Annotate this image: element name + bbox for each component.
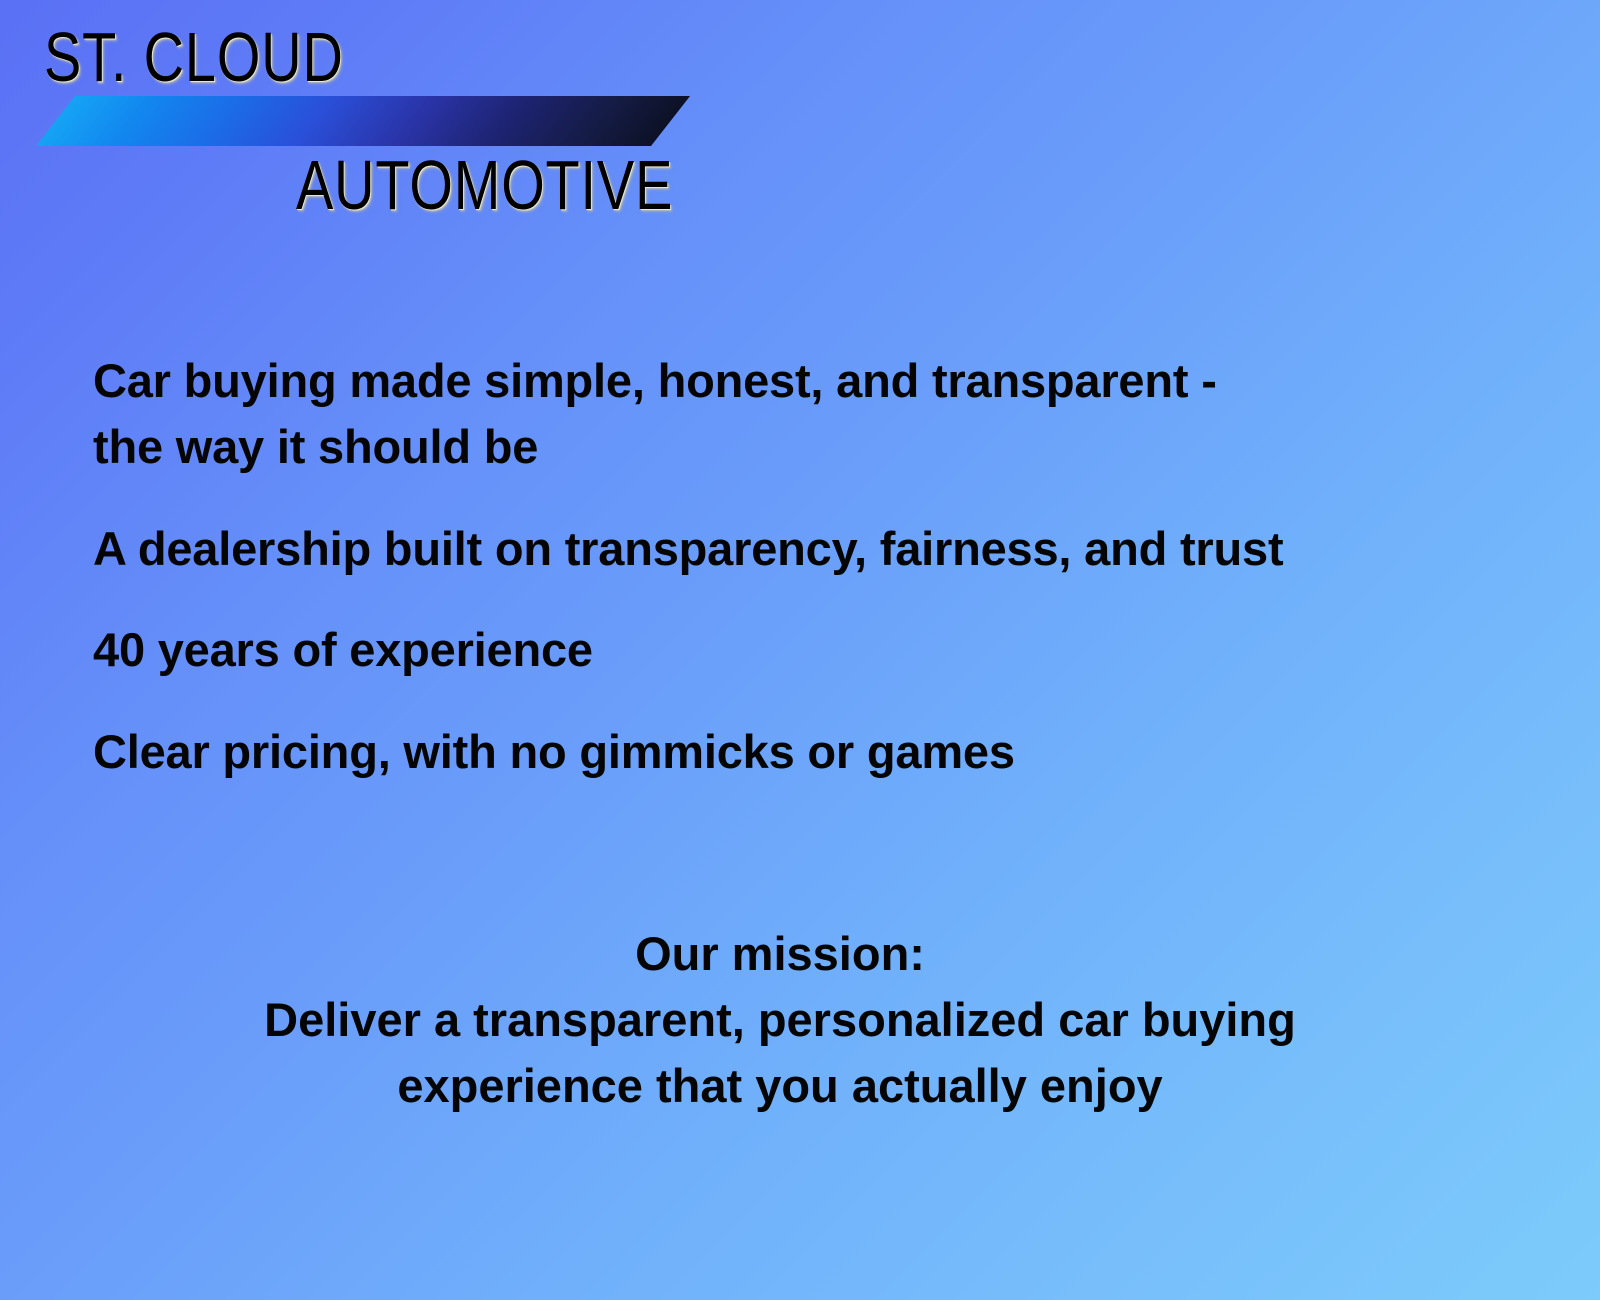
list-item: Clear pricing, with no gimmicks or games [93,719,1513,785]
list-item: A dealership built on transparency, fair… [93,516,1513,582]
mission-heading: Our mission: [80,922,1480,987]
value-proposition-list: Car buying made simple, honest, and tran… [93,348,1513,785]
logo-gradient-bar-icon [36,96,690,146]
slide-canvas: ST. CLOUD AUTOMOTIVE Car buying made sim… [0,0,1600,1300]
mission-statement-block: Our mission: Deliver a transparent, pers… [80,922,1480,1118]
logo-wordmark-line1: ST. CLOUD [44,19,344,95]
list-item: Car buying made simple, honest, and tran… [93,348,1513,480]
list-item: 40 years of experience [93,617,1513,683]
logo-wordmark-line2: AUTOMOTIVE [296,147,673,223]
mission-body: Deliver a transparent, personalized car … [80,987,1480,1119]
brand-logo: ST. CLOUD AUTOMOTIVE [0,0,760,230]
